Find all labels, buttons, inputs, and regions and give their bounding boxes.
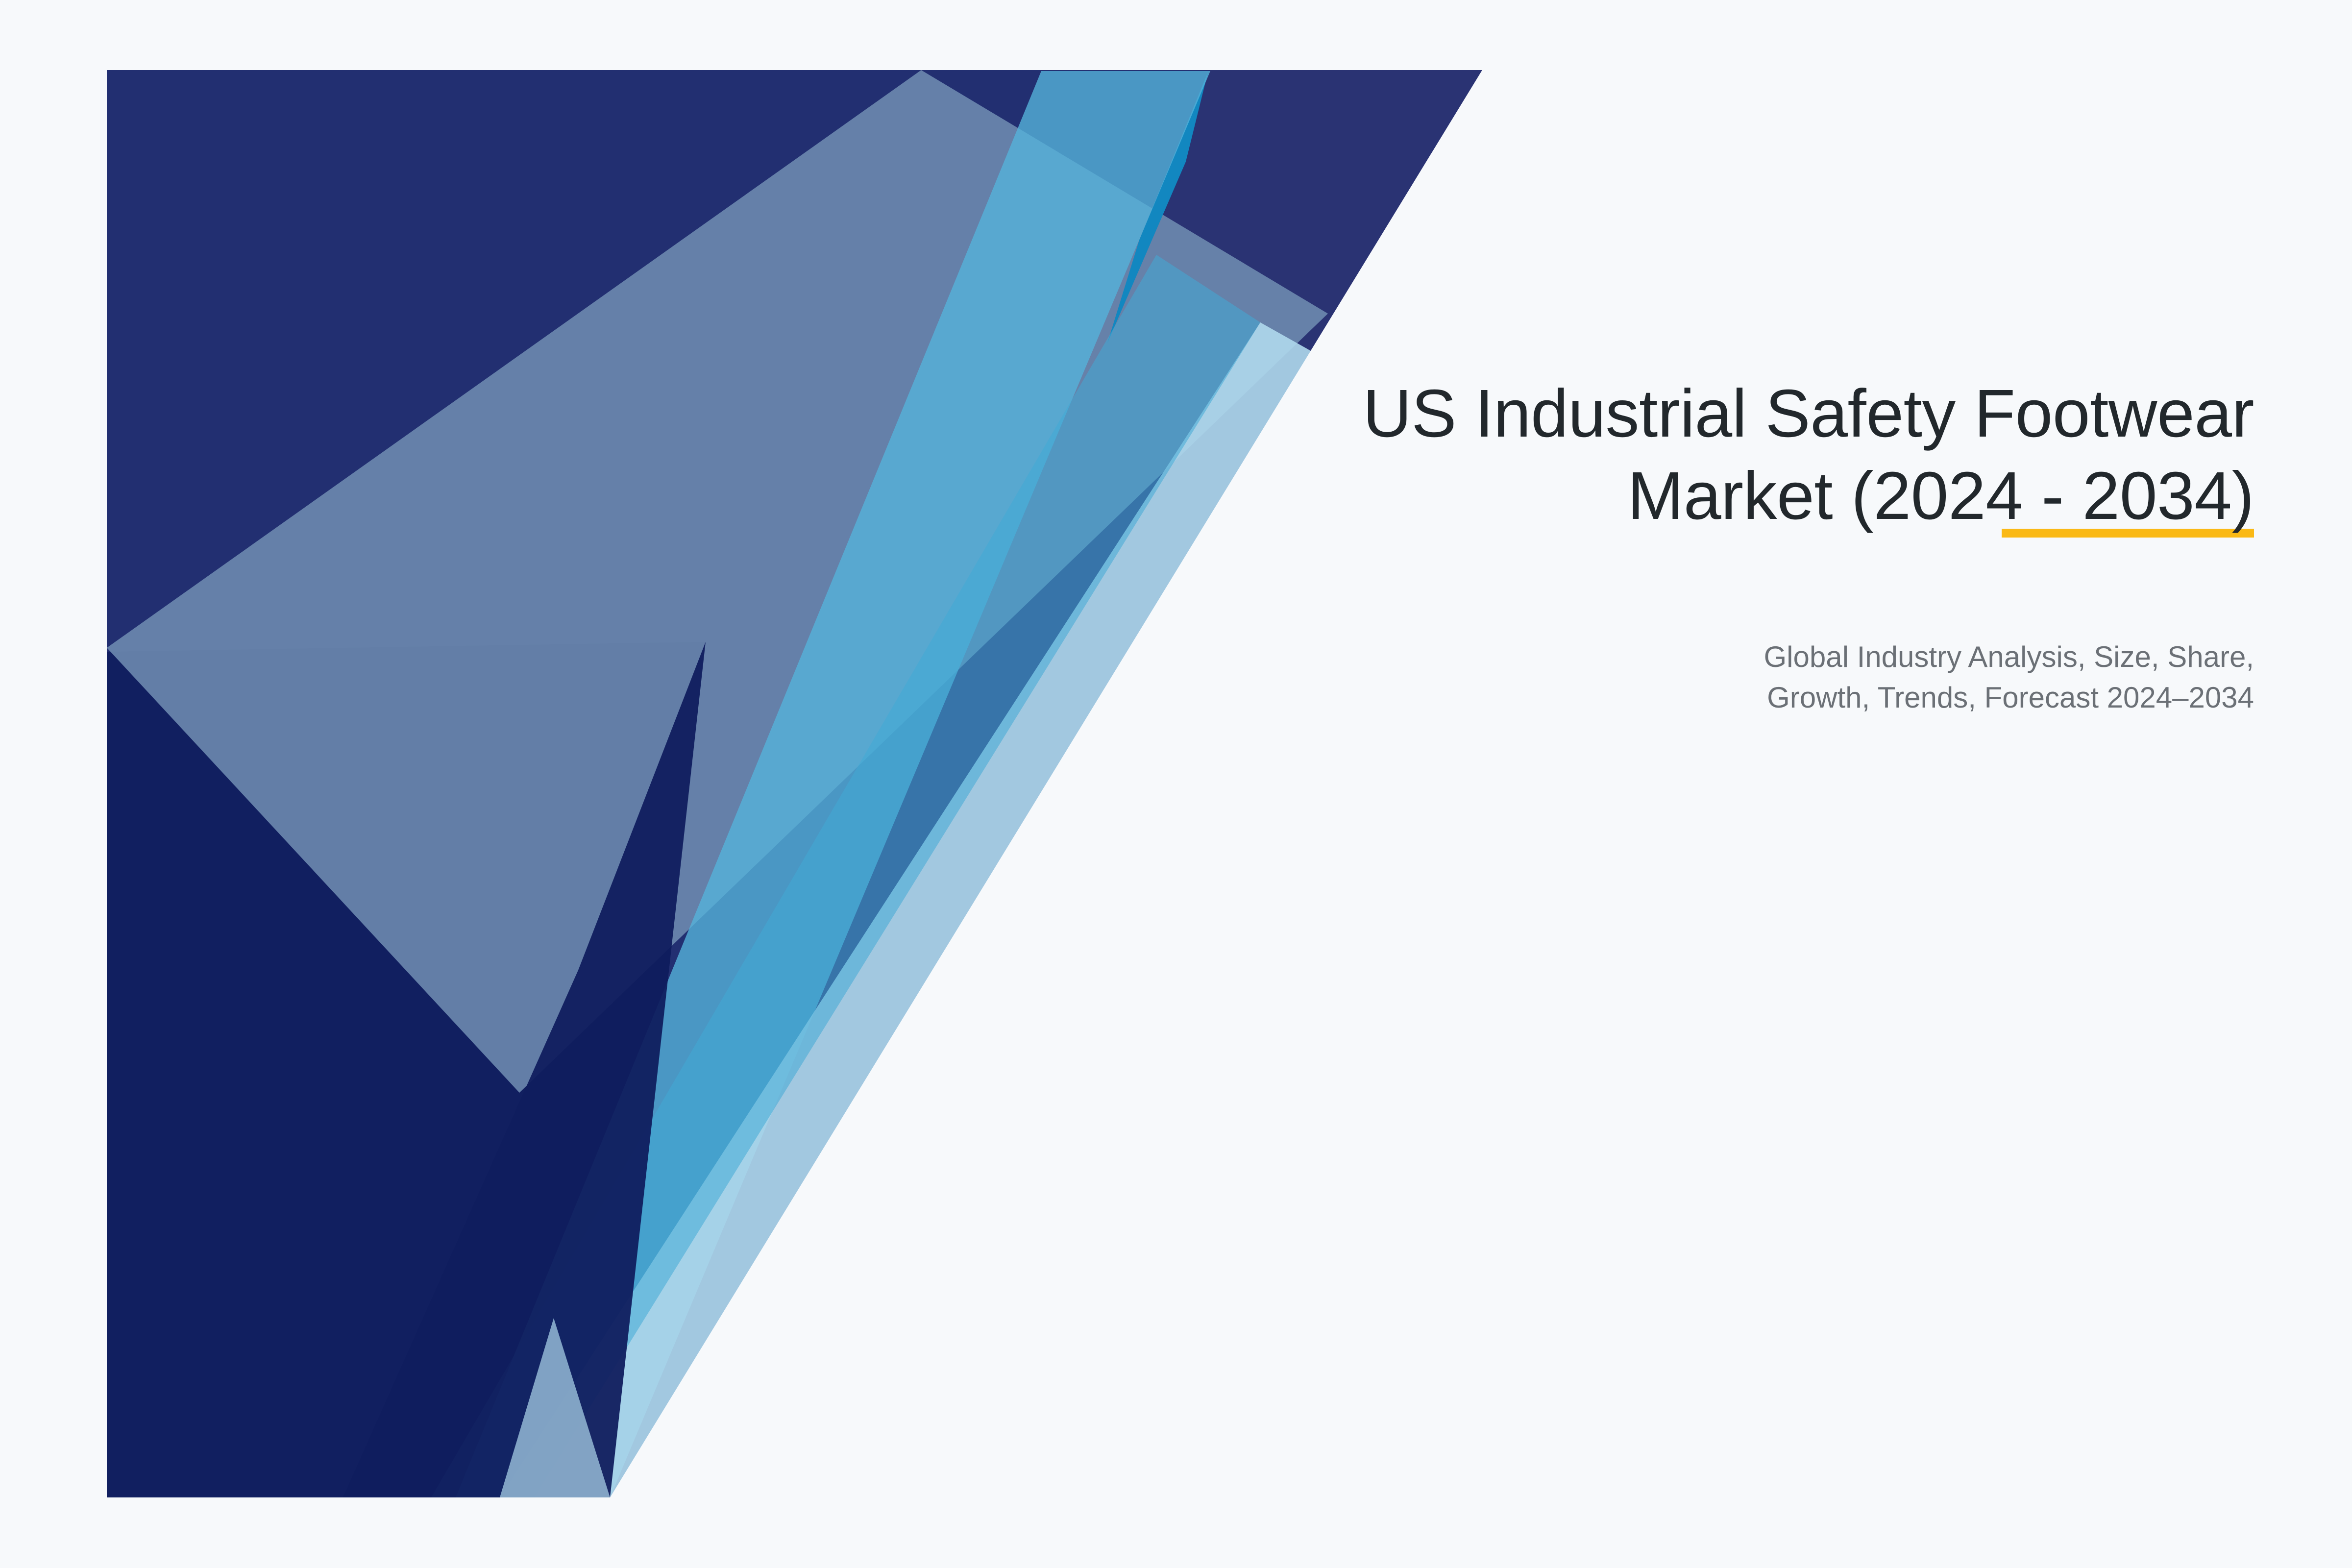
navy-top-wedge-shape — [107, 70, 1482, 1497]
page-title-line-1: US Industrial Safety Footwear — [1363, 376, 2254, 451]
pale-tail-shape — [500, 1318, 610, 1497]
page-title-line-2: Market (2024 - 2034) — [1627, 458, 2254, 534]
page-title: US Industrial Safety Footwear Market (20… — [1068, 372, 2254, 538]
cover-artwork — [0, 0, 2352, 1568]
slate-lower-shape — [107, 642, 706, 1455]
cyan-spike-shape — [1107, 73, 1208, 343]
sky-blue-band-shape — [456, 71, 1210, 1497]
report-cover-page: US Industrial Safety Footwear Market (20… — [0, 0, 2352, 1568]
page-subtitle-line-2: Growth, Trends, Forecast 2024–2034 — [1767, 681, 2254, 714]
page-subtitle: Global Industry Analysis, Size, Share, G… — [1068, 637, 2254, 718]
deep-navy-base-shape — [107, 642, 706, 1497]
deep-navy-spike-shape — [343, 642, 706, 1497]
title-block: US Industrial Safety Footwear Market (20… — [1068, 372, 2254, 538]
cyan-block-shape — [107, 70, 1210, 1497]
page-subtitle-line-1: Global Industry Analysis, Size, Share, — [1764, 640, 2254, 673]
artwork-mask — [0, 0, 2352, 1568]
slate-parallelogram-shape — [107, 70, 1328, 1093]
